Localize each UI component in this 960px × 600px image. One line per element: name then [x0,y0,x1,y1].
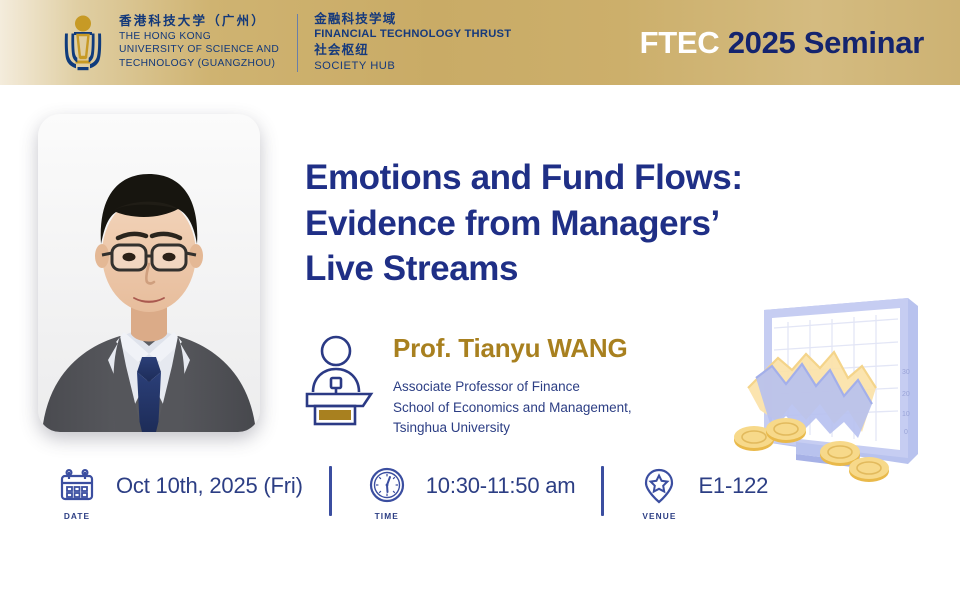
seminar-title-line-3: Live Streams [305,246,905,292]
info-item-time: TIME 10:30-11:50 am [358,466,576,521]
series-title-prefix: FTEC [640,25,720,60]
hub-name-cn: 社会枢纽 [314,42,511,59]
venue-icon-column: VENUE [630,466,688,521]
header-banner: 香港科技大学（广州） THE HONG KONG UNIVERSITY OF S… [0,0,960,85]
time-icon-column: TIME [358,466,416,521]
university-name: 香港科技大学（广州） THE HONG KONG UNIVERSITY OF S… [119,14,279,71]
header-divider [297,14,298,72]
axis-label-30: 30 [902,369,910,376]
stock-chart-illustration: 30 20 10 0 [712,292,960,490]
seminar-title-line-1: Emotions and Fund Flows: [305,155,905,201]
seminar-poster: 香港科技大学（广州） THE HONG KONG UNIVERSITY OF S… [0,0,960,600]
axis-label-10: 10 [902,411,910,418]
info-separator [601,466,604,516]
calendar-icon [57,466,97,506]
speaker-affiliation: Associate Professor of Finance School of… [393,377,632,440]
thrust-name-cn: 金融科技学域 [314,11,511,28]
coin-icon [766,418,806,443]
seminar-title: Emotions and Fund Flows: Evidence from M… [305,155,905,292]
clock-icon [367,466,407,506]
axis-label-20: 20 [902,391,910,398]
podium-speaker-icon [305,332,377,428]
speaker-affiliation-line-1: Associate Professor of Finance [393,377,632,398]
hub-name-en: SOCIETY HUB [314,59,511,75]
university-logo-block: 香港科技大学（广州） THE HONG KONG UNIVERSITY OF S… [57,11,511,75]
axis-label-0: 0 [904,429,908,436]
speaker-details: Prof. Tianyu WANG Associate Professor of… [393,330,632,439]
date-value: Oct 10th, 2025 (Fri) [116,466,303,506]
thrust-name-en: FINANCIAL TECHNOLOGY THRUST [314,27,511,42]
venue-value: E1-122 [698,466,768,506]
event-info-bar: DATE Oct 10th, 2025 (Fri) [48,466,748,536]
date-icon-column: DATE [48,466,106,521]
speaker-name: Prof. Tianyu WANG [393,334,632,363]
info-item-venue: VENUE E1-122 [630,466,768,521]
date-caption: DATE [64,511,90,521]
series-title-suffix: 2025 Seminar [728,25,924,60]
series-title: FTEC 2025 Seminar [640,25,924,61]
seminar-title-line-2: Evidence from Managers’ [305,201,905,247]
university-name-en-1: THE HONG KONG [119,30,279,44]
thrust-block: 金融科技学域 FINANCIAL TECHNOLOGY THRUST 社会枢纽 … [314,11,511,75]
venue-caption: VENUE [642,511,676,521]
speaker-affiliation-line-2: School of Economics and Management, [393,398,632,419]
info-item-date: DATE Oct 10th, 2025 (Fri) [48,466,303,521]
info-separator [329,466,332,516]
university-name-en-3: TECHNOLOGY (GUANGZHOU) [119,57,279,71]
speaker-photo [38,114,260,432]
hkust-logo-icon [57,14,109,72]
time-value: 10:30-11:50 am [426,466,576,506]
speaker-block: Prof. Tianyu WANG Associate Professor of… [305,330,632,439]
coin-icon [849,457,889,482]
speaker-portrait-image [38,114,260,432]
map-pin-star-icon [639,466,679,506]
speaker-affiliation-line-3: Tsinghua University [393,418,632,439]
isometric-monitor-coins-icon: 30 20 10 0 [712,292,960,490]
time-caption: TIME [375,511,399,521]
university-name-cn: 香港科技大学（广州） [119,14,279,30]
university-name-en-2: UNIVERSITY OF SCIENCE AND [119,43,279,57]
